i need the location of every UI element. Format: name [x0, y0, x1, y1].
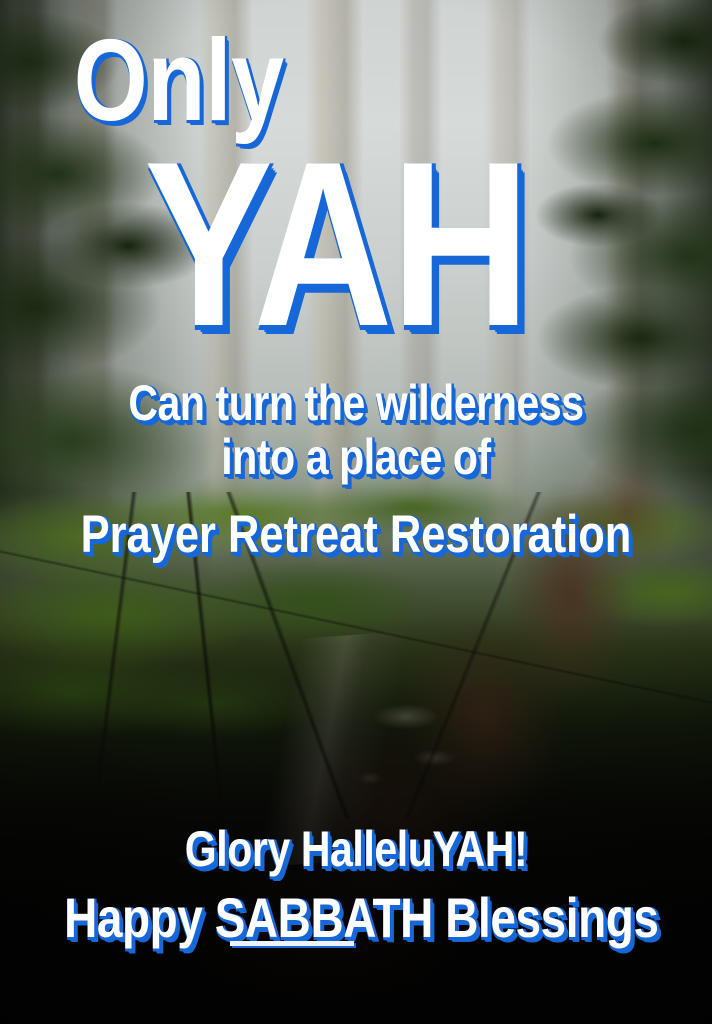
poster-canvas: Only YAH Can turn the wilderness into a … — [0, 0, 712, 1024]
body-line-place-of: into a place of — [64, 432, 648, 482]
closing-line-glory-halleluyah: Glory HalleluYAH! — [64, 824, 648, 874]
body-line-prayer-retreat-restoration: Prayer Retreat Restoration — [64, 508, 648, 561]
body-line-wilderness: Can turn the wilderness — [64, 378, 648, 428]
headline-yah: YAH — [0, 126, 584, 361]
text-overlay: Only YAH Can turn the wilderness into a … — [0, 0, 712, 1024]
sabbath-underline-decoration — [230, 941, 354, 946]
closing-line-happy-sabbath-blessings: Happy SABBATH Blessings — [64, 890, 648, 946]
